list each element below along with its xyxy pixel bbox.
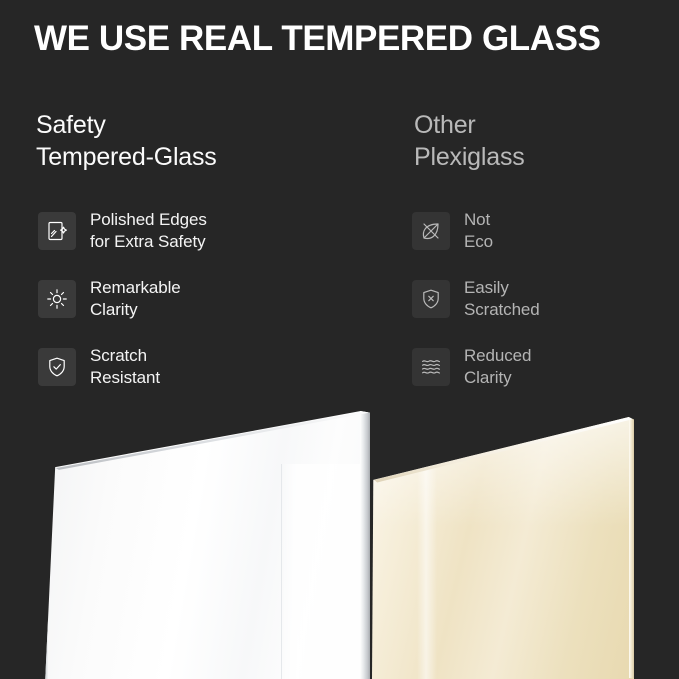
feature-row: Remarkable Clarity <box>38 277 181 321</box>
feature-label: Easily Scratched <box>464 277 540 321</box>
leaf-crossed-out-icon <box>412 212 450 250</box>
feature-label-line1: Easily <box>464 277 540 299</box>
shield-x-icon <box>412 280 450 318</box>
feature-label: Scratch Resistant <box>90 345 160 389</box>
feature-label-line1: Polished Edges <box>90 209 207 231</box>
page-title: WE USE REAL TEMPERED GLASS <box>34 20 664 59</box>
shield-check-icon <box>38 348 76 386</box>
sun-clarity-icon <box>38 280 76 318</box>
product-photo <box>0 396 679 679</box>
feature-label: Reduced Clarity <box>464 345 531 389</box>
feature-label-line2: Clarity <box>90 299 181 321</box>
feature-label: Remarkable Clarity <box>90 277 181 321</box>
feature-row: Polished Edges for Extra Safety <box>38 209 207 253</box>
feature-label-line1: Scratch <box>90 345 160 367</box>
feature-row: Reduced Clarity <box>412 345 531 389</box>
glass-panel-inner-reflection <box>281 464 371 679</box>
column-heading-line2: Plexiglass <box>414 142 525 174</box>
feature-row: Not Eco <box>412 209 493 253</box>
feature-label-line1: Not <box>464 209 493 231</box>
feature-label-line2: for Extra Safety <box>90 231 207 253</box>
tempered-glass-panel <box>40 402 370 679</box>
glass-panel-top-edge <box>55 410 372 469</box>
glass-panel-left-edge <box>44 466 48 679</box>
feature-row: Scratch Resistant <box>38 345 160 389</box>
column-heading-safety-tempered-glass: Safety Tempered-Glass <box>36 110 217 174</box>
feature-label-line1: Remarkable <box>90 277 181 299</box>
feature-row: Easily Scratched <box>412 277 540 321</box>
feature-label: Not Eco <box>464 209 493 253</box>
column-heading-line1: Other <box>414 110 525 142</box>
glass-panel-right-edge <box>360 411 370 679</box>
column-heading-line2: Tempered-Glass <box>36 142 217 174</box>
feature-label-line2: Eco <box>464 231 493 253</box>
feature-label: Polished Edges for Extra Safety <box>90 209 207 253</box>
feature-label-line2: Resistant <box>90 367 160 389</box>
feature-label-line1: Reduced <box>464 345 531 367</box>
wavy-lines-icon <box>412 348 450 386</box>
column-heading-other-plexiglass: Other Plexiglass <box>414 110 525 174</box>
plexiglass-panel <box>372 417 634 679</box>
plexi-panel-right-edge <box>629 419 634 678</box>
comparison-infographic: WE USE REAL TEMPERED GLASS Safety Temper… <box>0 0 679 679</box>
column-heading-line1: Safety <box>36 110 217 142</box>
feature-label-line2: Clarity <box>464 367 531 389</box>
feature-label-line2: Scratched <box>464 299 540 321</box>
polished-edge-sparkle-icon <box>38 212 76 250</box>
